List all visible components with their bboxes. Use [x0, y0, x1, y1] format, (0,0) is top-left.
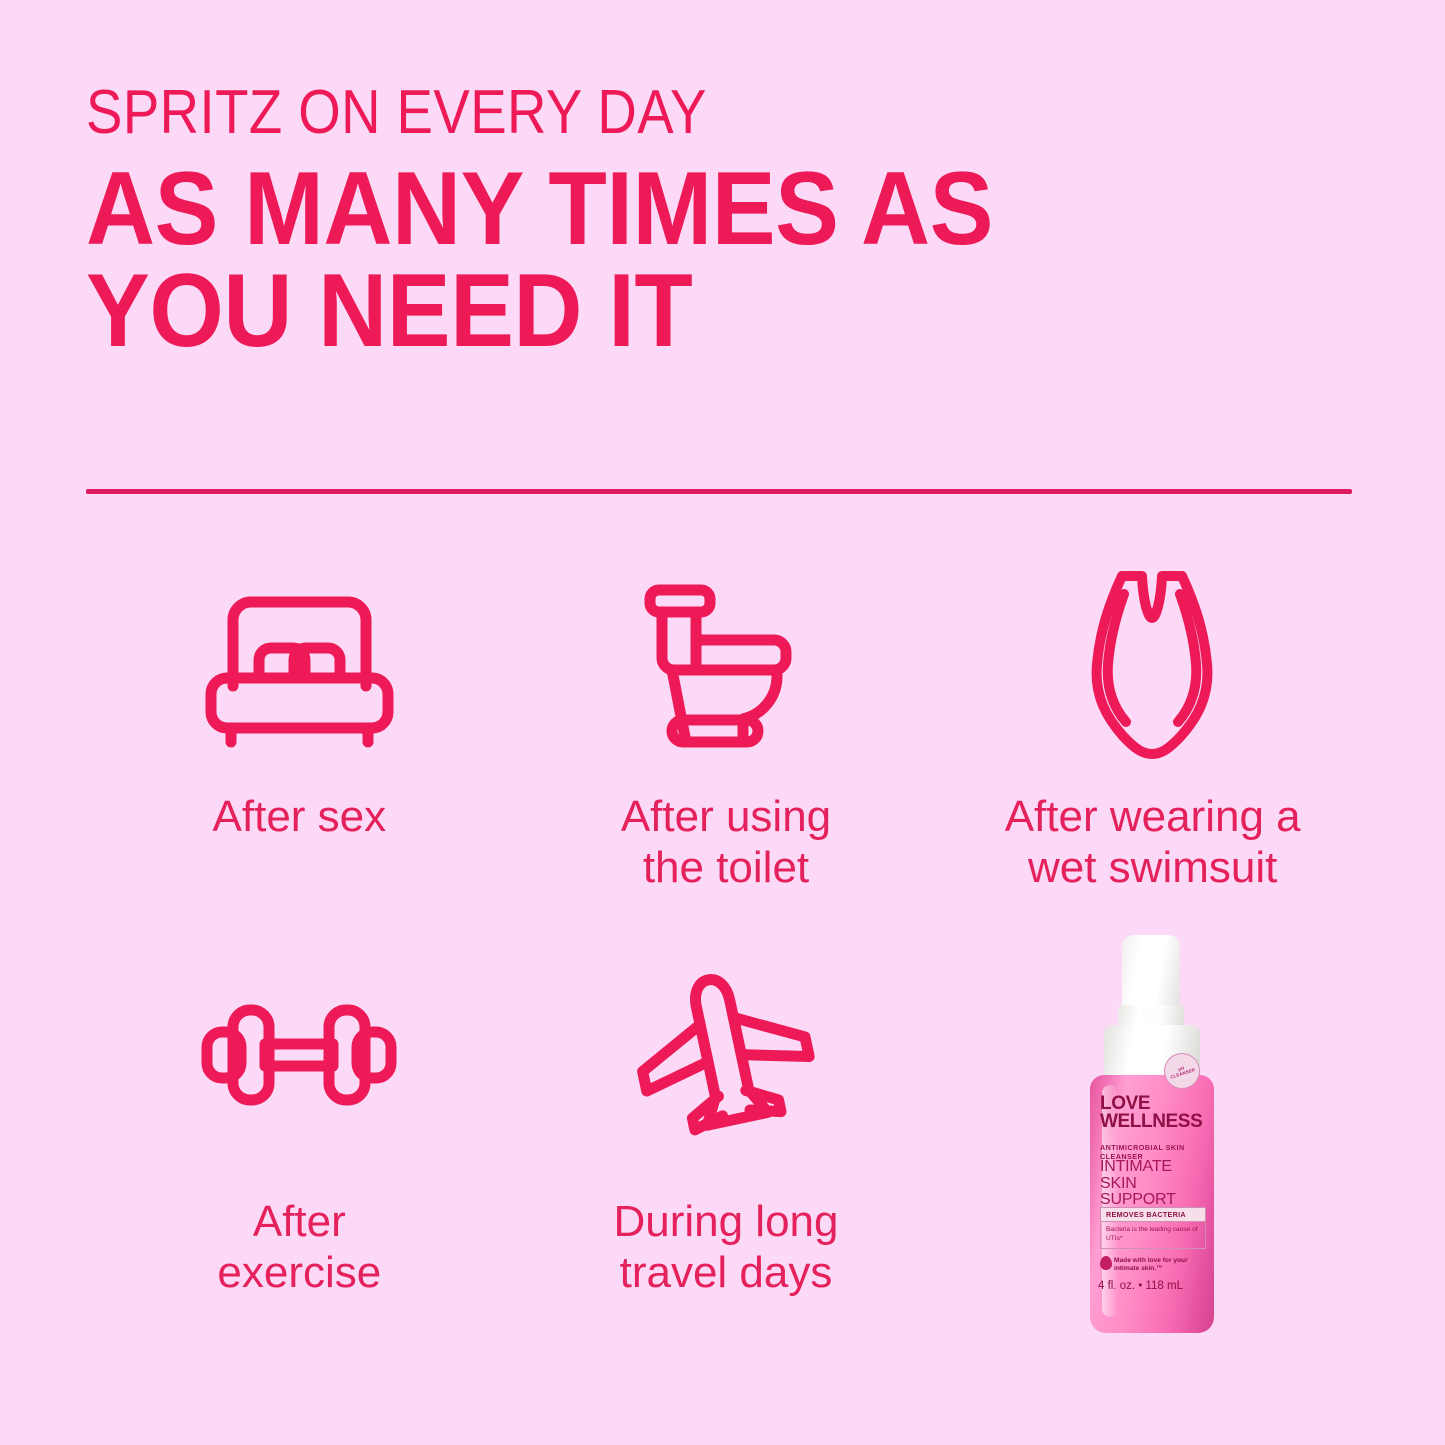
love-note: Made with love for your intimate skin.™: [1114, 1257, 1210, 1274]
bed-icon: [197, 560, 402, 775]
heart-icon: [1100, 1256, 1112, 1270]
use-case-caption: After using the toilet: [621, 791, 831, 893]
divider: [86, 489, 1352, 494]
claim-strip: REMOVES BACTERIA: [1100, 1207, 1206, 1222]
use-case-caption: After sex: [213, 791, 387, 842]
use-case-after-swimsuit: After wearing a wet swimsuit: [939, 560, 1366, 940]
dumbbell-icon: [199, 940, 399, 1170]
use-case-caption: After wearing a wet swimsuit: [1005, 791, 1301, 893]
spray-nozzle: [1122, 935, 1180, 1013]
headline-block: SPRITZ ON EVERY DAY AS MANY TIMES AS YOU…: [86, 84, 1366, 363]
claim-body: Bacteria is the leading cause of UTIs*: [1100, 1223, 1206, 1249]
use-case-after-toilet: After using the toilet: [513, 560, 940, 940]
product-bottle: pH CLEANSER LOVE WELLNESS ANTIMICROBIAL …: [1056, 935, 1246, 1335]
page-title: AS MANY TIMES AS YOU NEED IT: [86, 159, 1264, 363]
product-size: 4 fl. oz. • 118 mL: [1098, 1280, 1210, 1292]
swimsuit-icon: [1080, 560, 1225, 775]
headline-line-2: YOU NEED IT: [86, 261, 1264, 363]
use-case-after-exercise: After exercise: [86, 940, 513, 1320]
airplane-icon: [628, 940, 823, 1170]
brand-name: LOVE WELLNESS: [1100, 1095, 1208, 1131]
headline-line-1: AS MANY TIMES AS: [86, 159, 1264, 261]
claim-strip-text: REMOVES BACTERIA: [1106, 1210, 1186, 1219]
promo-graphic: SPRITZ ON EVERY DAY AS MANY TIMES AS YOU…: [0, 0, 1445, 1445]
product-name: INTIMATE SKIN SUPPORT: [1100, 1159, 1212, 1209]
toilet-icon: [636, 560, 816, 775]
use-case-during-travel: During long travel days: [513, 940, 940, 1320]
use-case-caption: After exercise: [217, 1196, 381, 1298]
eyebrow-text: SPRITZ ON EVERY DAY: [86, 84, 1212, 141]
use-case-after-sex: After sex: [86, 560, 513, 940]
use-case-caption: During long travel days: [613, 1196, 838, 1298]
bottle-graphic: pH CLEANSER LOVE WELLNESS ANTIMICROBIAL …: [1056, 935, 1246, 1335]
